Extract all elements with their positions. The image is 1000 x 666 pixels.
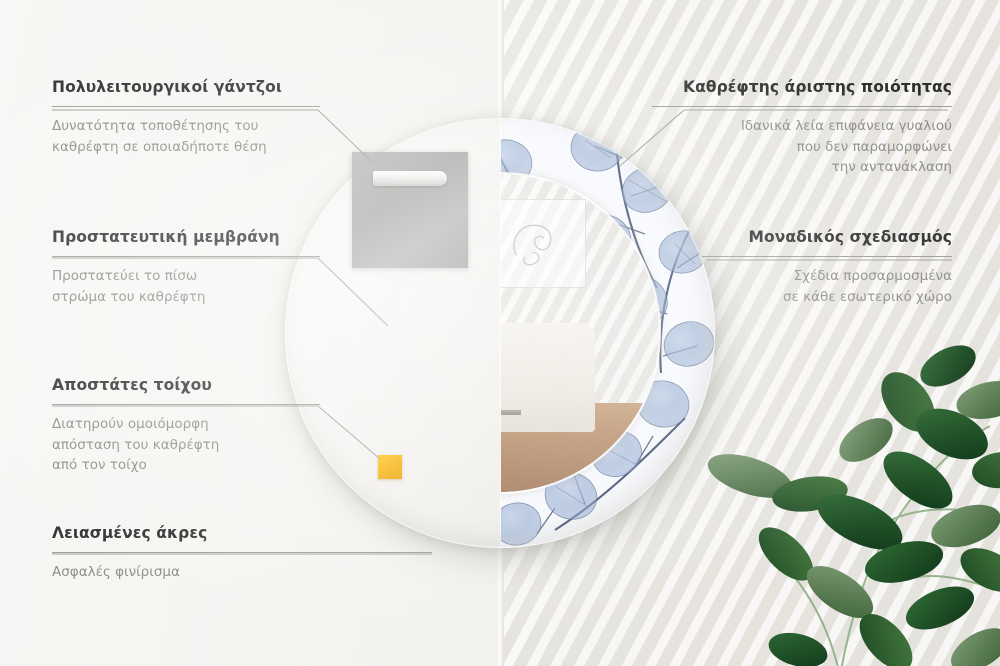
callout-membrane-desc: Προστατεύει το πίσω στρώμα του καθρέφτη [52,266,320,308]
line-art-face-icon [500,213,570,276]
desc-line: που δεν παραμορφώνει [797,139,952,155]
callout-edges-title: Λειασμένες άκρες [52,524,432,543]
callout-edges-desc: Ασφαλές φινίρισμα [52,562,432,583]
callout-spacers-desc: Διατηρούν ομοιόμορφη απόσταση του καθρέφ… [52,414,320,477]
callout-design-title: Μοναδικός σχεδιασμός [702,228,952,247]
callout-hooks: Πολυλειτουργικοί γάντζοι Δυνατότητα τοπο… [52,78,320,157]
mirror-half-split [500,118,501,548]
mirror-front-side [500,118,715,548]
round-mirror [285,118,715,548]
callout-spacers: Αποστάτες τοίχου Διατηρούν ομοιόμορφη απ… [52,376,320,476]
callout-design: Μοναδικός σχεδιασμός Σχέδια προσαρμοσμέν… [702,228,952,307]
desc-line: Σχέδια προσαρμοσμένα [794,268,952,284]
callout-quality: Καθρέφτης άριστης ποιότητας Ιδανικά λεία… [652,78,952,178]
hook-slot-icon [373,171,447,186]
callout-design-desc: Σχέδια προσαρμοσμένα σε κάθε εσωτερικό χ… [702,266,952,308]
desc-line: απόσταση του καθρέφτη [52,437,219,453]
desc-line: Δυνατότητα τοποθέτησης του [52,118,258,134]
callout-design-rule [702,256,952,257]
desc-line: στρώμα του καθρέφτη [52,289,205,305]
wall-spacer-chip [378,455,402,479]
desc-line: Ασφαλές φινίρισμα [52,564,180,580]
callout-quality-rule [652,106,952,107]
desc-line: Διατηρούν ομοιόμορφη [52,416,209,432]
callout-hooks-desc: Δυνατότητα τοποθέτησης του καθρέφτη σε ο… [52,116,320,158]
mounting-hook-plate [352,152,468,268]
callout-quality-desc: Ιδανικά λεία επιφάνεια γυαλιού που δεν π… [652,116,952,179]
desc-line: Ιδανικά λεία επιφάνεια γυαλιού [741,118,952,134]
callout-membrane-rule [52,256,320,257]
infographic-canvas: Πολυλειτουργικοί γάντζοι Δυνατότητα τοπο… [0,0,1000,666]
reflected-wall-art [500,199,586,288]
callout-edges-rule [52,552,432,553]
callout-quality-title: Καθρέφτης άριστης ποιότητας [652,78,952,97]
callout-hooks-title: Πολυλειτουργικοί γάντζοι [52,78,320,97]
callout-spacers-rule [52,404,320,405]
desc-line: καθρέφτη σε οποιαδήποτε θέση [52,139,267,155]
callout-edges: Λειασμένες άκρες Ασφαλές φινίρισμα [52,524,432,583]
desc-line: σε κάθε εσωτερικό χώρο [783,289,952,305]
desc-line: Προστατεύει το πίσω [52,268,197,284]
callout-membrane: Προστατευτική μεμβράνη Προστατεύει το πί… [52,228,320,307]
callout-hooks-rule [52,106,320,107]
desc-line: από τον τοίχο [52,457,147,473]
reflected-sofa [500,323,595,431]
desc-line: την αντανάκλαση [832,159,952,175]
mirror-glass [500,174,659,492]
callout-spacers-title: Αποστάτες τοίχου [52,376,320,395]
mirror-disc [285,118,715,548]
callout-membrane-title: Προστατευτική μεμβράνη [52,228,320,247]
sofa-base [500,410,521,415]
